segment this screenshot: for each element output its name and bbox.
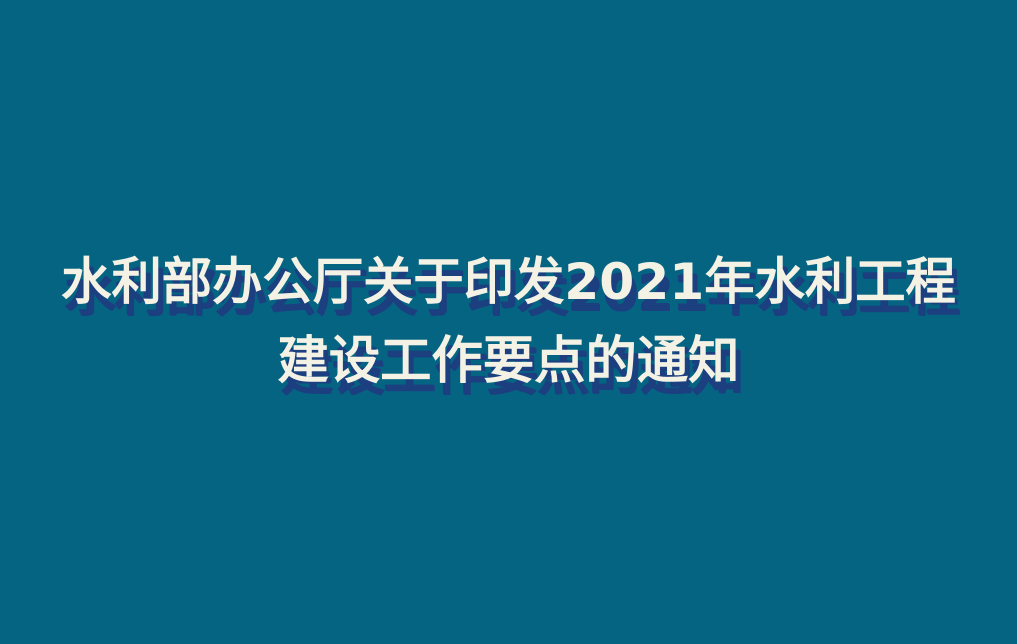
- title-slide: 水利部办公厅关于印发2021年水利工程 建设工作要点的通知: [0, 0, 1017, 644]
- title-block: 水利部办公厅关于印发2021年水利工程 建设工作要点的通知: [0, 0, 1017, 644]
- page-title-line-2: 建设工作要点的通知: [278, 336, 740, 387]
- page-title-line-1: 水利部办公厅关于印发2021年水利工程: [61, 257, 956, 307]
